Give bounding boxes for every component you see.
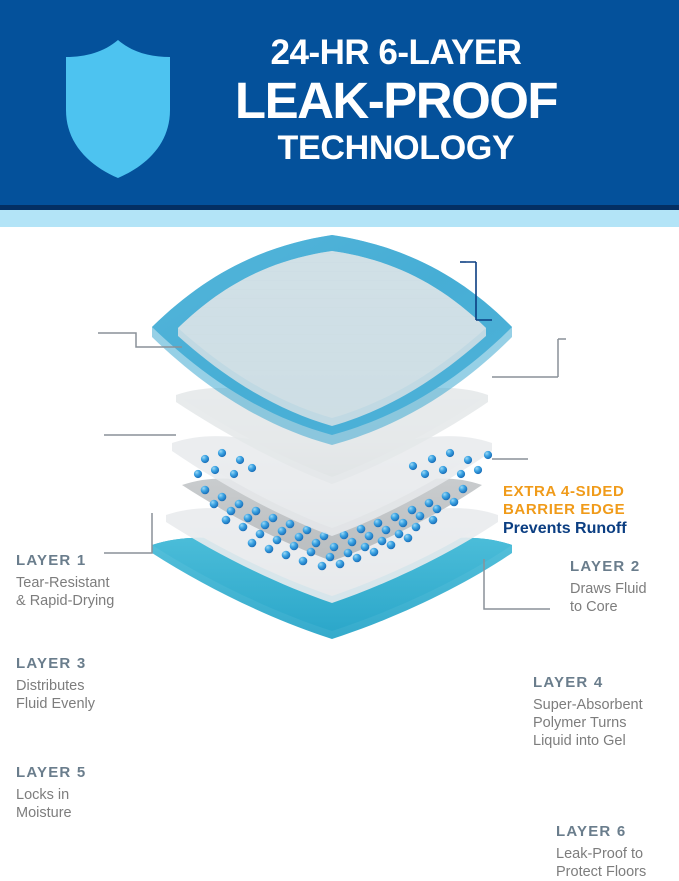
layer-4-title: LAYER 4 — [533, 674, 643, 691]
leader-layer-5 — [104, 513, 152, 553]
layer-2-desc-line-2: to Core — [570, 598, 647, 616]
callout-layer-3: LAYER 3 Distributes Fluid Evenly — [16, 655, 95, 713]
title-line-1: 24-HR 6-LAYER — [186, 32, 606, 74]
layer-1-title: LAYER 1 — [16, 552, 114, 569]
layer-5-title: LAYER 5 — [16, 764, 86, 781]
shield-icon — [60, 38, 176, 180]
layer-4-desc-line-3: Liquid into Gel — [533, 732, 643, 750]
layer-6-desc-line-2: Protect Floors — [556, 863, 646, 881]
barrier-subtitle: Prevents Runoff — [503, 519, 627, 539]
callout-layer-1: LAYER 1 Tear-Resistant & Rapid-Drying — [16, 552, 114, 610]
layer-4-desc-line-2: Polymer Turns — [533, 714, 643, 732]
callout-layer-4: LAYER 4 Super-Absorbent Polymer Turns Li… — [533, 674, 643, 750]
title-line-3: TECHNOLOGY — [186, 127, 606, 169]
layer-2-description: Draws Fluid to Core — [570, 580, 647, 616]
layer-3-desc-line-1: Distributes — [16, 677, 95, 695]
layer-3-title: LAYER 3 — [16, 655, 95, 672]
layer-1-desc-line-1: Tear-Resistant — [16, 574, 114, 592]
layer-2-desc-line-1: Draws Fluid — [570, 580, 647, 598]
layer-1-desc-line-2: & Rapid-Drying — [16, 592, 114, 610]
layer-3-desc-line-2: Fluid Evenly — [16, 695, 95, 713]
layer-6-description: Leak-Proof to Protect Floors — [556, 845, 646, 881]
barrier-title-line-1: EXTRA 4-SIDED — [503, 483, 627, 501]
layer-4-desc-line-1: Super-Absorbent — [533, 696, 643, 714]
page-title: 24-HR 6-LAYER LEAK-PROOF TECHNOLOGY — [186, 32, 606, 169]
callout-layer-5: LAYER 5 Locks in Moisture — [16, 764, 86, 822]
layer-2-title: LAYER 2 — [570, 558, 647, 575]
layer-6-title: LAYER 6 — [556, 823, 646, 840]
layer-3-description: Distributes Fluid Evenly — [16, 677, 95, 713]
title-line-2: LEAK-PROOF — [186, 74, 606, 127]
header-divider-pale — [0, 210, 679, 227]
layer-5-desc-line-1: Locks in — [16, 786, 86, 804]
layer-4-description: Super-Absorbent Polymer Turns Liquid int… — [533, 696, 643, 750]
layer-diagram: EXTRA 4-SIDED BARRIER EDGE Prevents Runo… — [0, 227, 679, 672]
callout-barrier-edge: EXTRA 4-SIDED BARRIER EDGE Prevents Runo… — [503, 483, 627, 539]
leader-layer-6 — [484, 559, 550, 609]
layer-5-description: Locks in Moisture — [16, 786, 86, 822]
callout-layer-6: LAYER 6 Leak-Proof to Protect Floors — [556, 823, 646, 881]
callout-layer-2: LAYER 2 Draws Fluid to Core — [570, 558, 647, 616]
barrier-title-line-2: BARRIER EDGE — [503, 501, 627, 519]
layer-5-desc-line-2: Moisture — [16, 804, 86, 822]
layer-6-desc-line-1: Leak-Proof to — [556, 845, 646, 863]
layer-1-description: Tear-Resistant & Rapid-Drying — [16, 574, 114, 610]
